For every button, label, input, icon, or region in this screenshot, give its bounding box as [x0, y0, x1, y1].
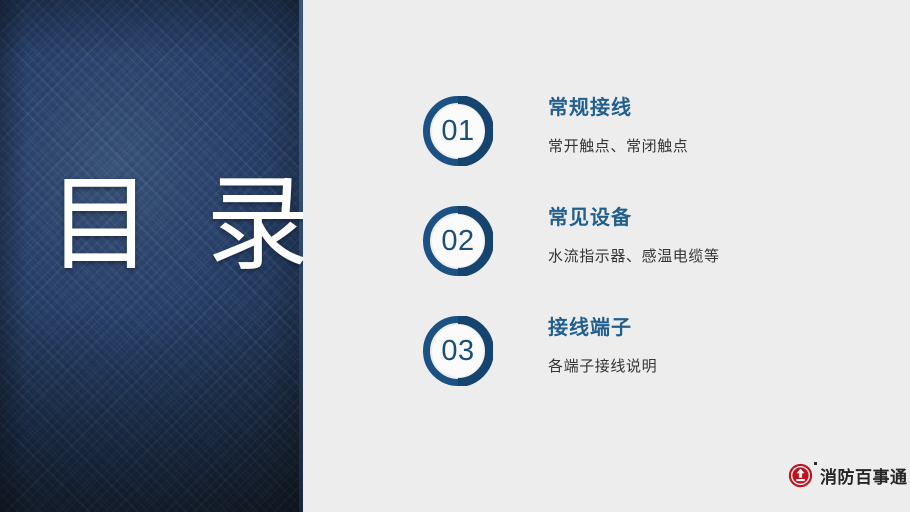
number-badge-label: 02 [423, 206, 493, 276]
list-item-heading: 接线端子 [548, 314, 848, 342]
brand-logo: 消防百事通 [788, 460, 908, 490]
number-badge-label: 03 [423, 316, 493, 386]
list-item[interactable]: 03 接线端子 各端子接线说明 [423, 306, 853, 396]
list-item-heading: 常规接线 [548, 94, 848, 122]
left-title-panel: 目 录 [0, 0, 303, 512]
page-title: 目 录 [48, 168, 288, 284]
number-badge: 02 [423, 206, 493, 276]
number-badge: 03 [423, 316, 493, 386]
number-badge: 01 [423, 96, 493, 166]
list-item[interactable]: 01 常规接线 常开触点、常闭触点 [423, 86, 853, 176]
list-item[interactable]: 02 常见设备 水流指示器、感温电缆等 [423, 196, 853, 286]
list-item-subtitle: 常开触点、常闭触点 [548, 135, 848, 159]
slide-canvas: 目 录 01 常规接线 常开触点、常闭触点 [0, 0, 910, 512]
fire-safety-circle-icon [788, 463, 813, 488]
list-item-heading: 常见设备 [548, 204, 848, 232]
list-item-subtitle: 水流指示器、感温电缆等 [548, 245, 848, 269]
logo-trademark-dot [814, 462, 817, 465]
brand-logo-label: 消防百事通 [820, 463, 908, 488]
right-content-panel: 01 常规接线 常开触点、常闭触点 02 常见 [303, 0, 910, 512]
list-item-subtitle: 各端子接线说明 [548, 355, 848, 379]
list-item-text: 常见设备 水流指示器、感温电缆等 [548, 196, 848, 269]
number-badge-label: 01 [423, 96, 493, 166]
list-item-text: 接线端子 各端子接线说明 [548, 306, 848, 379]
list-item-text: 常规接线 常开触点、常闭触点 [548, 86, 848, 159]
